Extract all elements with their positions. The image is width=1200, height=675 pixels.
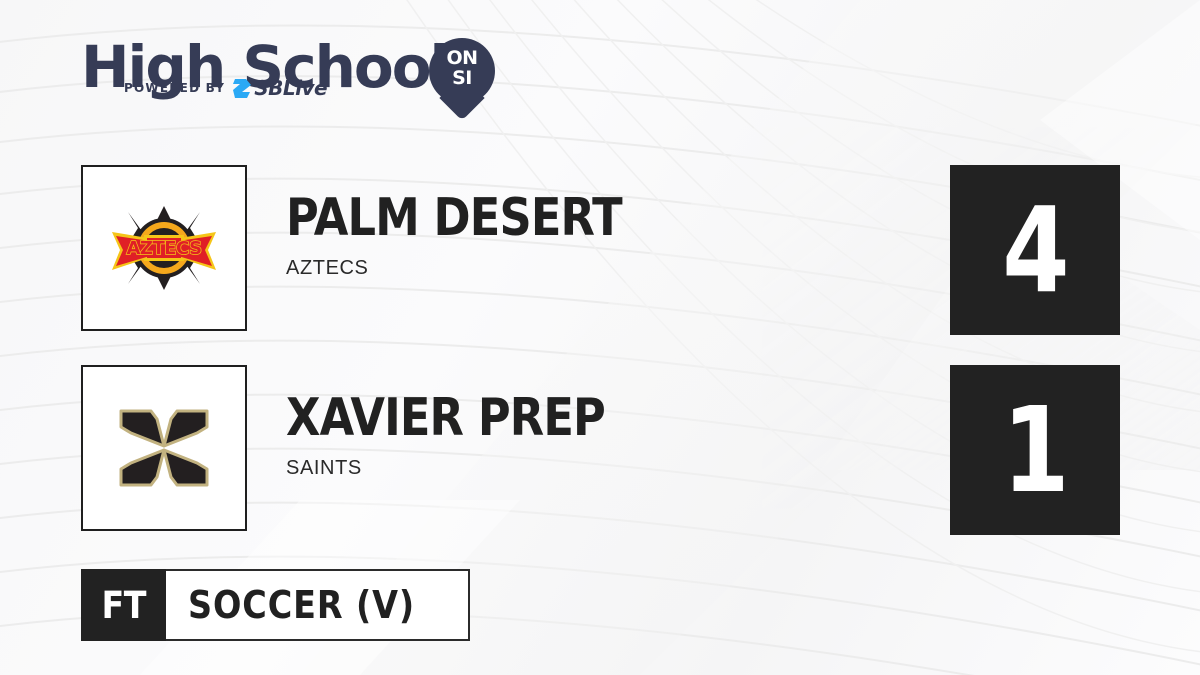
pin-line-on: ON (429, 48, 495, 68)
team-name: PALM DESERT (286, 191, 888, 245)
team-score-box: 1 (950, 365, 1120, 535)
on-si-pin-icon: ON SI (429, 38, 495, 118)
powered-by-lockup: POWERED BY SBLive (124, 76, 327, 100)
sport-label: SOCCER (V) (188, 583, 415, 627)
scoreboard-graphic: High School ON SI POWERED BY SBLive (0, 0, 1200, 675)
sblive-wordmark: SBLive (254, 76, 327, 100)
team-logo-box: AZTECS (81, 165, 247, 331)
team-info: PALM DESERT AZTECS (286, 191, 986, 280)
team-info: XAVIER PREP SAINTS (286, 391, 986, 480)
team-row: AZTECS PALM DESERT AZTECS 4 (81, 165, 1120, 335)
game-status-bar: FT SOCCER (V) (81, 569, 470, 641)
svg-text:AZTECS: AZTECS (126, 238, 201, 259)
team-row: XAVIER PREP SAINTS 1 (81, 365, 1120, 535)
team-mascot: SAINTS (286, 457, 986, 480)
team-score-box: 4 (950, 165, 1120, 335)
status-badge: FT (81, 569, 166, 641)
team-score: 4 (1002, 191, 1068, 309)
pin-label: ON SI (429, 48, 495, 88)
powered-by-label: POWERED BY (124, 81, 225, 95)
team-name: XAVIER PREP (286, 391, 888, 445)
team-mascot: AZTECS (286, 257, 986, 280)
palm-desert-aztecs-logo-icon: AZTECS (104, 188, 224, 308)
pin-line-si: SI (429, 68, 495, 88)
sport-label-box: SOCCER (V) (166, 569, 470, 641)
team-score: 1 (1002, 391, 1068, 509)
sblive-logo: SBLive (233, 76, 327, 100)
team-logo-box (81, 365, 247, 531)
xavier-prep-saints-logo-icon (109, 393, 219, 503)
status-code-label: FT (101, 584, 146, 627)
sblive-bolt-icon (233, 79, 251, 98)
